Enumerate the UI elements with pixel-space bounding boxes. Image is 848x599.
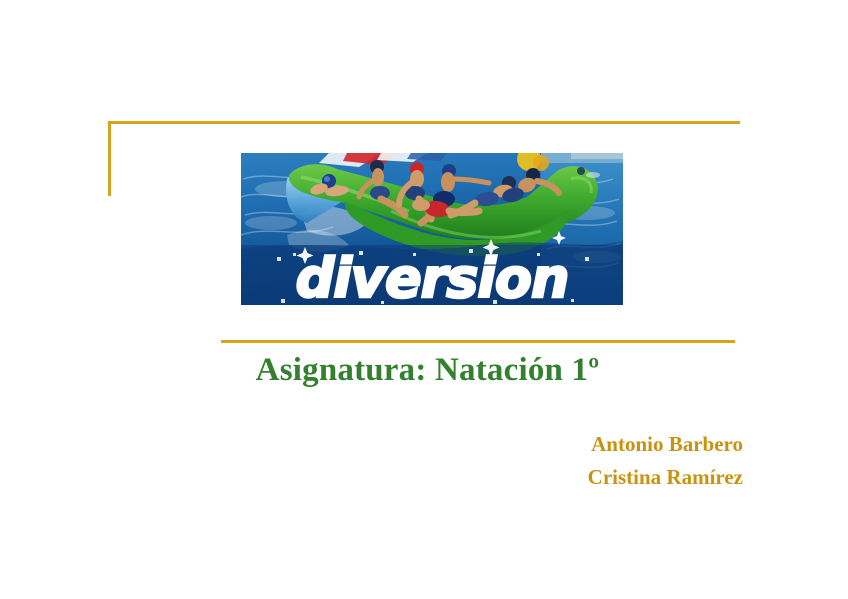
title-divider-rule: [221, 340, 735, 343]
author-name-2: Cristina Ramírez: [300, 461, 743, 494]
corner-rule-vertical: [108, 121, 111, 196]
pool-photo-illustration: diversion: [241, 153, 623, 305]
image-caption-diversion: diversion: [296, 247, 569, 305]
author-list: Antonio Barbero Cristina Ramírez: [300, 428, 743, 494]
title-image: diversion: [241, 153, 623, 305]
author-name-1: Antonio Barbero: [300, 428, 743, 461]
slide-title: Asignatura: Natación 1º: [120, 350, 735, 390]
corner-rule-horizontal: [108, 121, 740, 124]
svg-text:diversion: diversion: [296, 247, 569, 305]
presentation-slide: diversion Asignatura: Natación 1º Antoni…: [0, 0, 848, 599]
